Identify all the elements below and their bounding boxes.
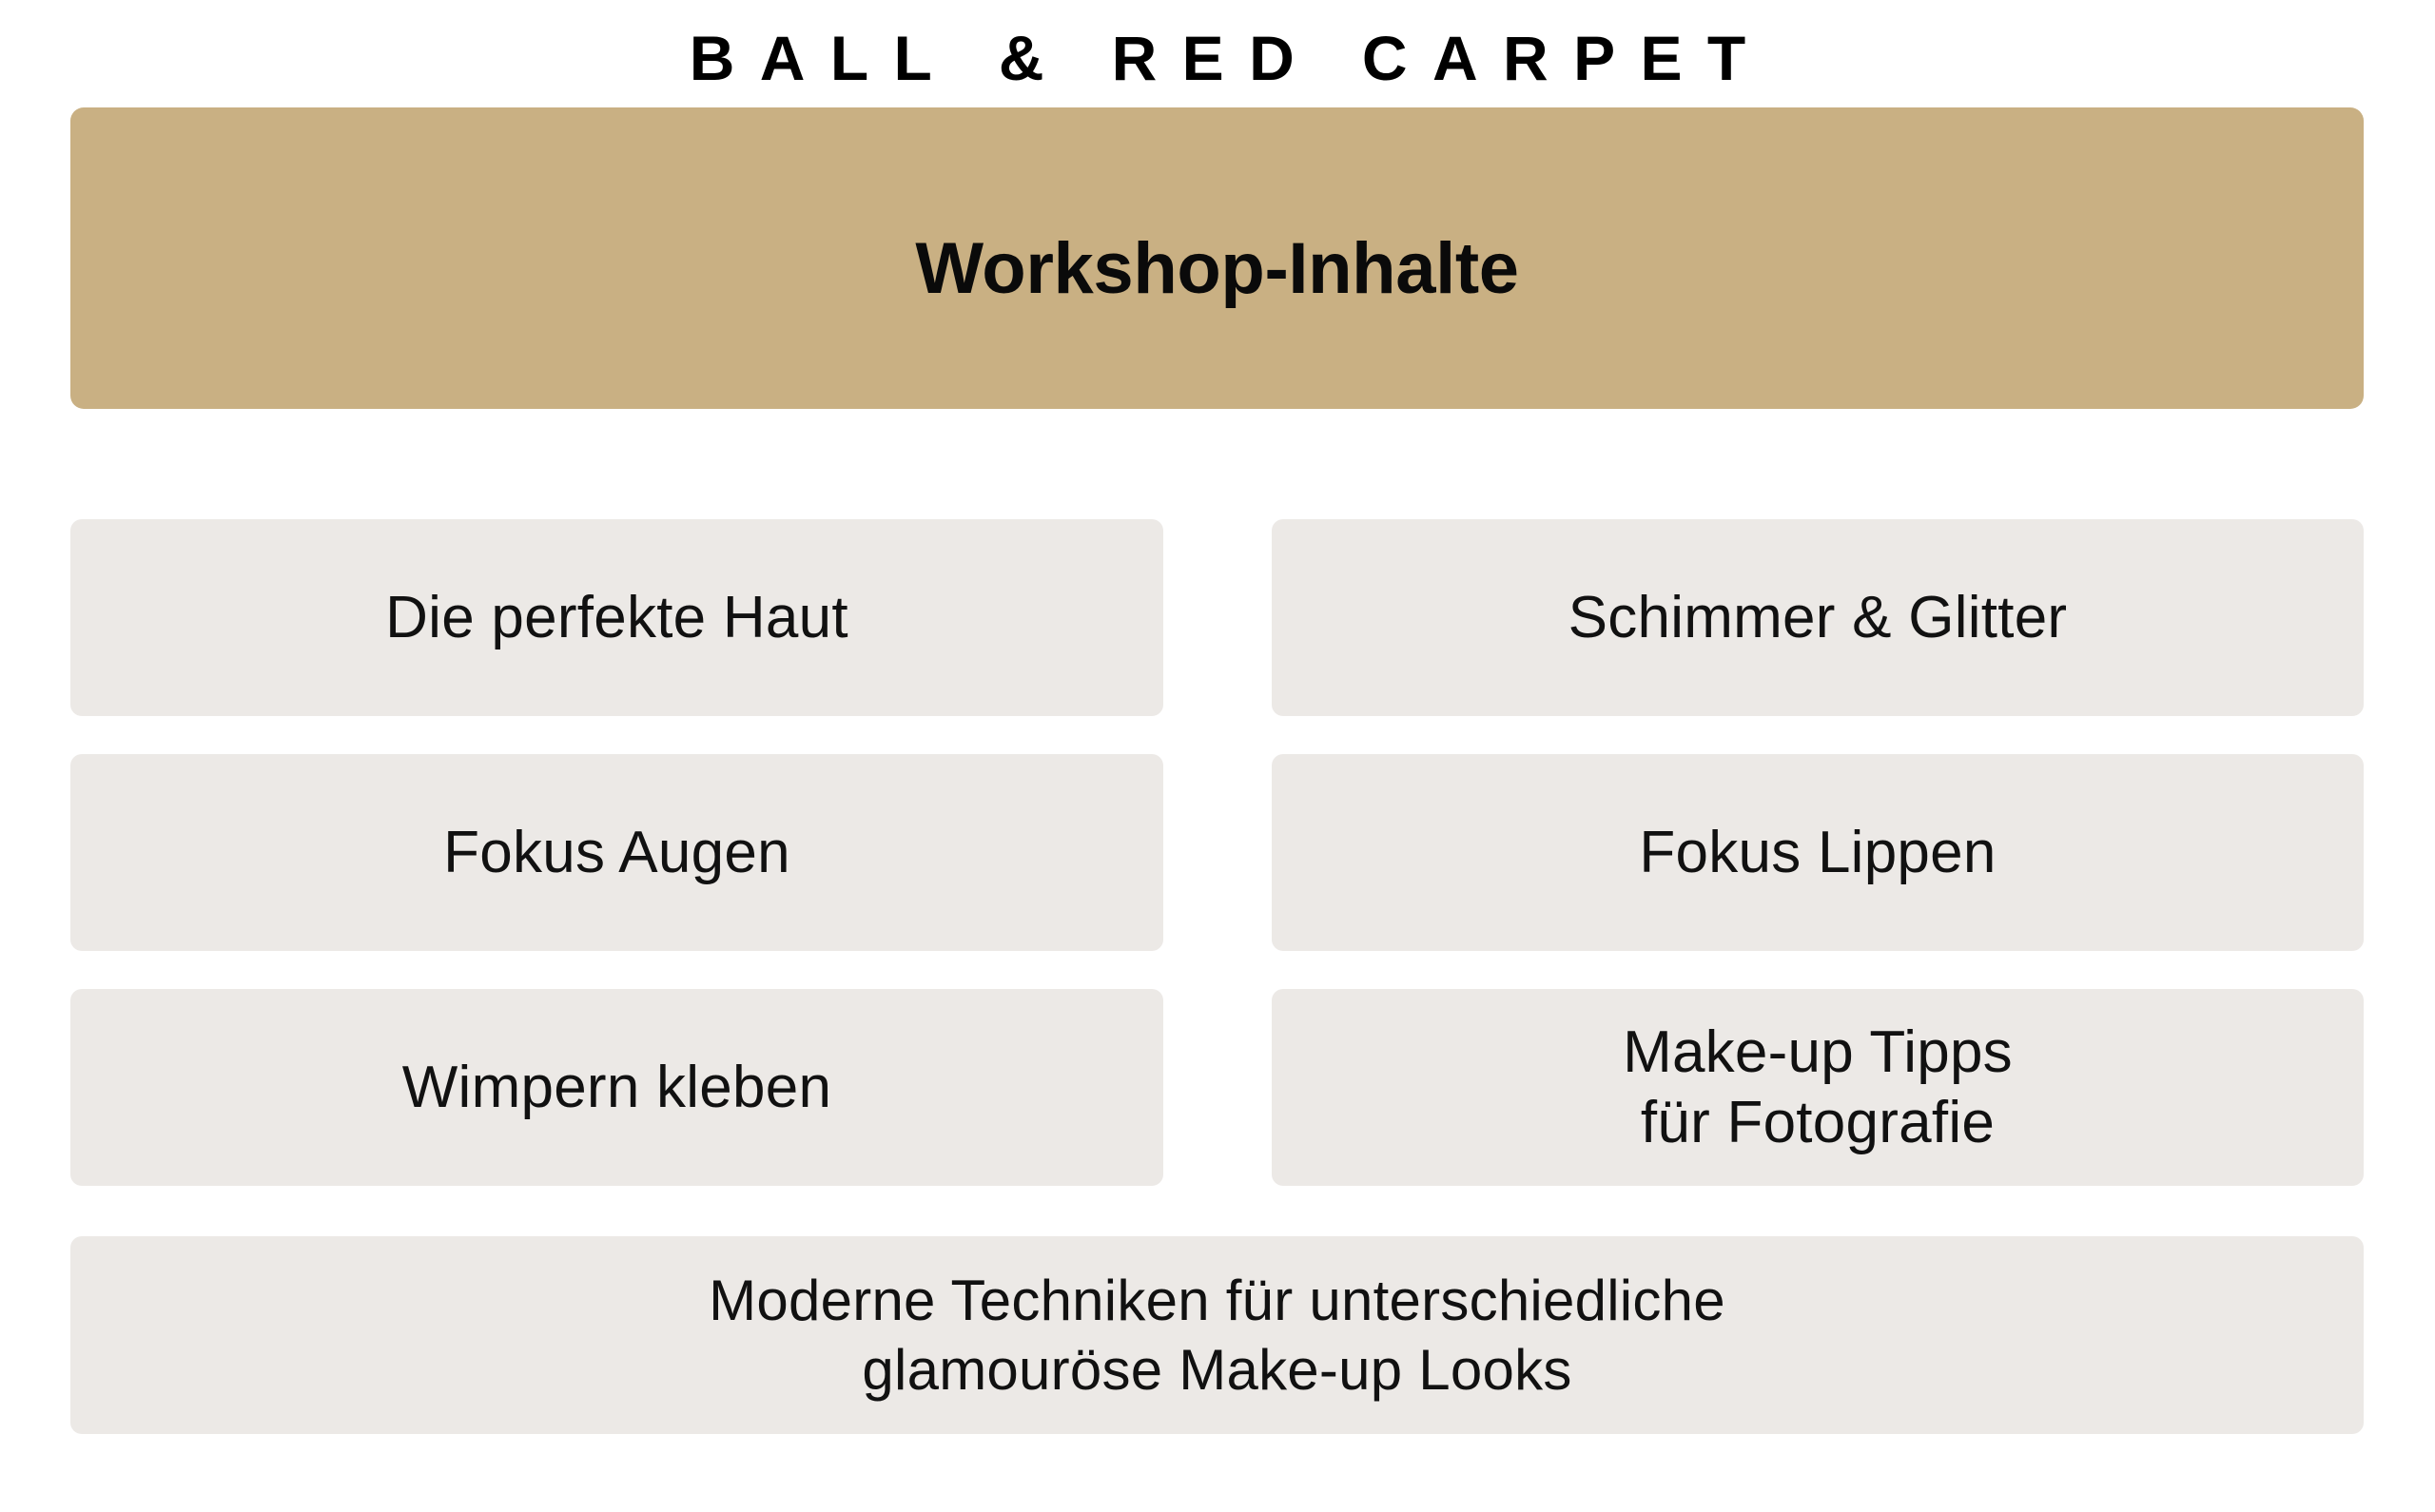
content-card-wimpern-kleben[interactable]: Wimpern kleben <box>70 989 1163 1186</box>
content-card-label: Die perfekte Haut <box>385 585 848 650</box>
content-card-moderne-techniken[interactable]: Moderne Techniken für unterschiedliche g… <box>70 1236 2364 1434</box>
page-title: Workshop-Inhalte <box>70 233 2364 305</box>
brand-kicker: BALL & RED CARPET <box>0 27 2435 89</box>
content-card-label: Wimpern kleben <box>402 1055 831 1120</box>
content-card-label: Moderne Techniken für unterschiedliche g… <box>709 1266 1725 1405</box>
content-card-fokus-lippen[interactable]: Fokus Lippen <box>1272 754 2364 951</box>
content-card-label: Make-up Tipps für Fotografie <box>1623 1018 2013 1156</box>
content-card-label: Schimmer & Glitter <box>1568 585 2068 650</box>
content-card-make-up-tipps-fotografie[interactable]: Make-up Tipps für Fotografie <box>1272 989 2364 1186</box>
content-card-fokus-augen[interactable]: Fokus Augen <box>70 754 1163 951</box>
content-grid: Die perfekte Haut Schimmer & Glitter Fok… <box>70 519 2364 1434</box>
content-card-die-perfekte-haut[interactable]: Die perfekte Haut <box>70 519 1163 716</box>
content-card-label: Fokus Augen <box>443 820 790 885</box>
content-card-schimmer-glitter[interactable]: Schimmer & Glitter <box>1272 519 2364 716</box>
content-card-label: Fokus Lippen <box>1639 820 1996 885</box>
